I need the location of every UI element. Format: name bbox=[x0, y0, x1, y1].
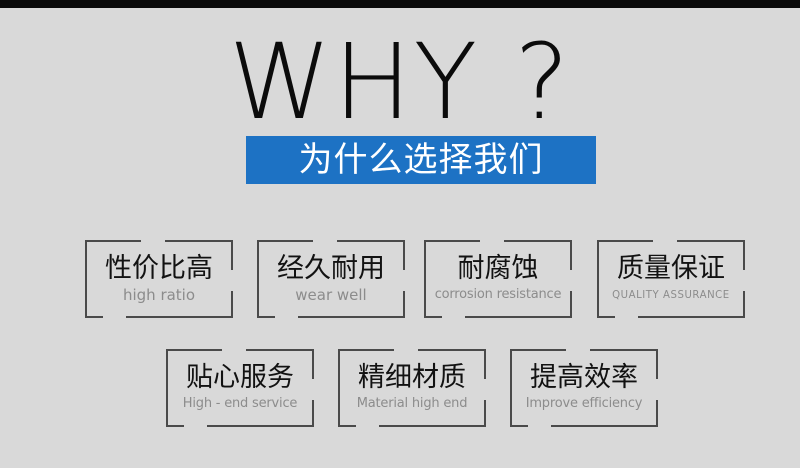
feature-title-en: wear well bbox=[295, 285, 366, 305]
feature-title-en: Material high end bbox=[357, 394, 468, 414]
feature-title-cn: 提高效率 bbox=[530, 362, 638, 393]
feature-title-en: high ratio bbox=[123, 285, 195, 305]
feature-title-cn: 贴心服务 bbox=[186, 362, 294, 393]
feature-title-cn: 经久耐用 bbox=[277, 253, 385, 284]
page-title: WHY ? bbox=[0, 30, 800, 134]
feature-title-en: QUALITY ASSURANCE bbox=[612, 285, 730, 305]
subtitle-banner: 为什么选择我们 bbox=[246, 136, 596, 184]
feature-title-en: corrosion resistance bbox=[435, 285, 562, 305]
feature-title-cn: 精细材质 bbox=[358, 362, 466, 393]
feature-card-2: 经久耐用 wear well bbox=[257, 240, 405, 318]
promo-banner-stage: WHY ? 为什么选择我们 性价比高 high ratio 经久耐用 wear … bbox=[0, 8, 800, 468]
feature-title-cn: 耐腐蚀 bbox=[458, 253, 539, 284]
feature-card-1: 性价比高 high ratio bbox=[85, 240, 233, 318]
subtitle-text: 为什么选择我们 bbox=[299, 143, 544, 177]
feature-card-5: 贴心服务 High - end service bbox=[166, 349, 314, 427]
feature-title-cn: 性价比高 bbox=[105, 253, 213, 284]
feature-card-3: 耐腐蚀 corrosion resistance bbox=[424, 240, 572, 318]
feature-title-en: Improve efficiency bbox=[526, 394, 643, 414]
feature-card-4: 质量保证 QUALITY ASSURANCE bbox=[597, 240, 745, 318]
feature-title-cn: 质量保证 bbox=[617, 253, 725, 284]
feature-card-7: 提高效率 Improve efficiency bbox=[510, 349, 658, 427]
feature-card-6: 精细材质 Material high end bbox=[338, 349, 486, 427]
feature-title-en: High - end service bbox=[183, 394, 297, 414]
top-black-bar bbox=[0, 0, 800, 8]
